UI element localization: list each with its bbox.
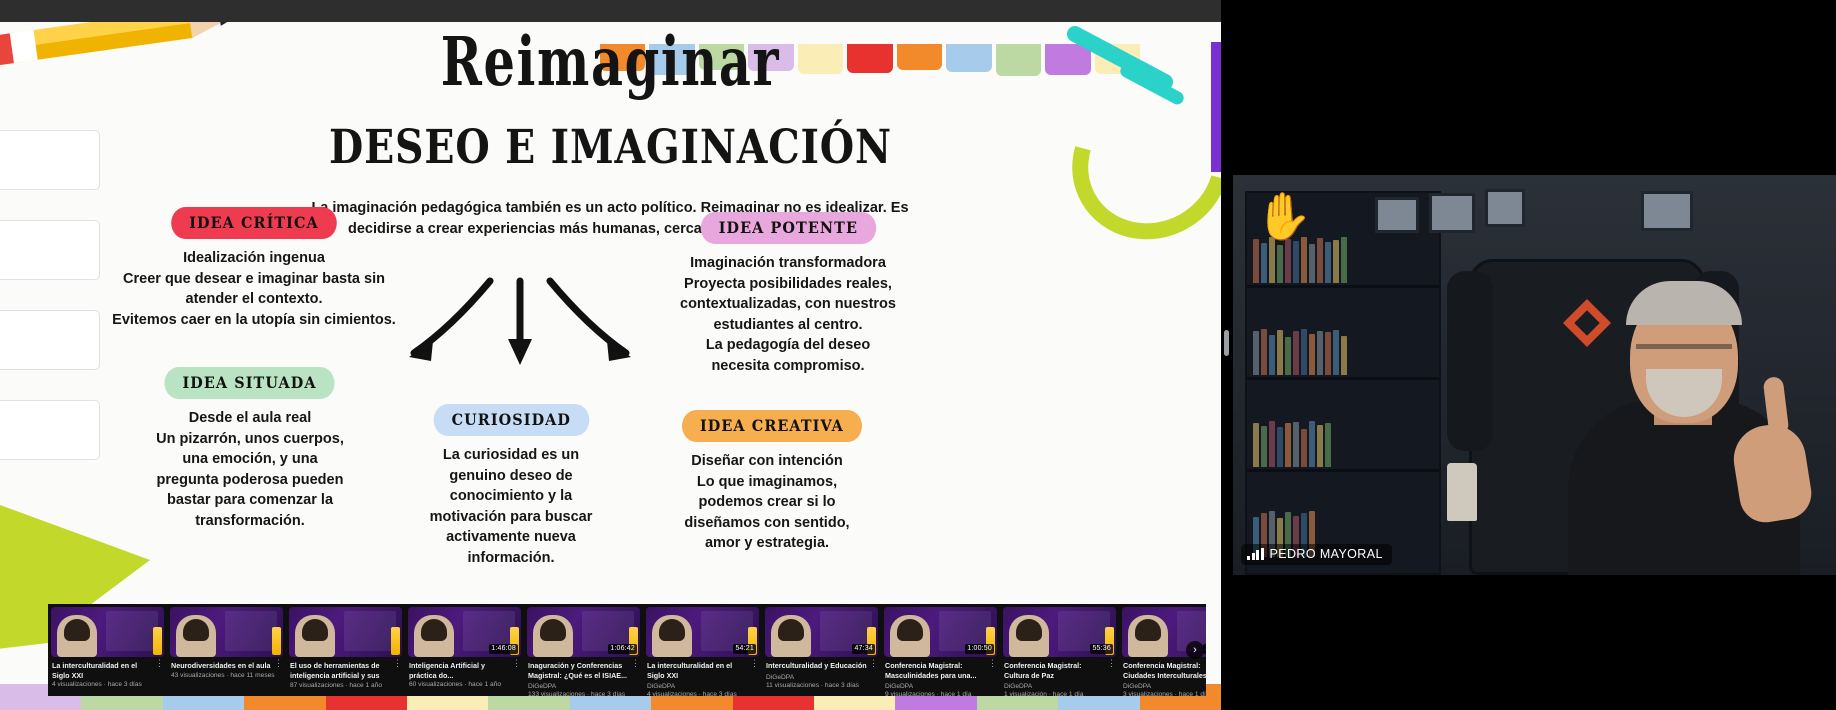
- video-title[interactable]: La interculturalidad en el Siglo XXI: [52, 661, 155, 680]
- panel-resize-handle[interactable]: [1224, 330, 1229, 356]
- chevron-right-icon[interactable]: ›: [1186, 641, 1204, 659]
- books-row: [1253, 237, 1347, 283]
- video-title[interactable]: Interculturalidad y Educación: [766, 661, 869, 671]
- slide-thumbnail-placeholder[interactable]: [0, 400, 100, 460]
- idea-body-curiosidad: La curiosidad es un genuino deseo de con…: [418, 445, 604, 568]
- idea-block-critica: IDEA CRÍTICA Idealización ingenua Creer …: [108, 207, 400, 330]
- video-title[interactable]: Conferencia Magistral: Ciudades Intercul…: [1123, 661, 1206, 680]
- idea-body-creativa: Diseñar con intención Lo que imaginamos,…: [672, 451, 862, 554]
- purple-bar-decoration: [1211, 42, 1221, 172]
- idea-body-critica: Idealización ingenua Creer que desear e …: [108, 248, 400, 330]
- video-meta: 9 visualizaciones · hace 1 día: [885, 691, 996, 696]
- bookshelf: [1245, 191, 1441, 575]
- desk-lamp: [1447, 463, 1477, 521]
- wall-picture-frame: [1375, 197, 1419, 233]
- presentation-top-bar: [0, 0, 1221, 22]
- participant-person: [1568, 245, 1800, 575]
- video-channel[interactable]: DiGeDPA: [647, 683, 758, 690]
- video-duration: 1:00:50: [965, 644, 994, 655]
- lime-shape-bottom-left: [0, 494, 150, 614]
- video-channel[interactable]: DiGeDPA: [528, 683, 639, 690]
- video-meta: 4 visualizaciones · hace 3 días: [647, 691, 758, 696]
- badge-idea-creativa: IDEA CREATIVA: [682, 410, 862, 442]
- video-title[interactable]: La interculturalidad en el Siglo XXI: [647, 661, 750, 680]
- youtube-video-card[interactable]: 1:46:08Inteligencia Artificial y práctic…: [405, 604, 524, 696]
- kebab-menu-icon[interactable]: ⋮: [750, 660, 759, 666]
- badge-idea-situada: IDEA SITUADA: [165, 367, 335, 399]
- video-channel[interactable]: DiGeDPA: [1004, 683, 1115, 690]
- video-thumbnail[interactable]: [170, 607, 283, 657]
- youtube-video-card[interactable]: 1:06:42Inaguración y Conferencias Magist…: [524, 604, 643, 696]
- kebab-menu-icon[interactable]: ⋮: [869, 660, 878, 666]
- video-channel[interactable]: DiGeDPA: [766, 674, 877, 681]
- video-meta: 133 visualizaciones · hace 3 días: [528, 691, 639, 696]
- video-meta: 43 visualizaciones · hace 11 meses: [171, 672, 282, 679]
- video-title[interactable]: Conferencia Magistral: Cultura de Paz: [1004, 661, 1107, 680]
- raised-hand-icon: ✋: [1255, 193, 1312, 239]
- slide-thumbnail-placeholder[interactable]: [0, 310, 100, 370]
- participant-name-label: PEDRO MAYORAL: [1270, 547, 1383, 561]
- wall-picture-frame: [1641, 191, 1693, 231]
- kebab-menu-icon[interactable]: ⋮: [393, 660, 402, 666]
- idea-block-curiosidad: CURIOSIDAD La curiosidad es un genuino d…: [418, 404, 604, 568]
- youtube-video-card[interactable]: 47:34Interculturalidad y EducaciónDiGeDP…: [762, 604, 881, 696]
- video-thumbnail[interactable]: 54:21: [646, 607, 759, 657]
- youtube-video-card[interactable]: 1:00:50Conferencia Magistral: Masculinid…: [881, 604, 1000, 696]
- books-row: [1253, 329, 1347, 375]
- slide-title: Reimaginar: [110, 28, 1111, 95]
- video-duration: 1:46:08: [489, 644, 518, 655]
- video-meta: 1 visualización · hace 1 día: [1004, 691, 1115, 696]
- youtube-video-card[interactable]: Neurodiversidades en el aula43 visualiza…: [167, 604, 286, 696]
- hair: [1626, 281, 1742, 325]
- video-title[interactable]: Conferencia Magistral: Masculinidades pa…: [885, 661, 988, 680]
- chair-wing-left: [1447, 271, 1493, 451]
- shared-screen-region[interactable]: Reimaginar DESEO E IMAGINACIÓN La imagin…: [0, 0, 1221, 710]
- kebab-menu-icon[interactable]: ⋮: [155, 660, 164, 666]
- kebab-menu-icon[interactable]: ⋮: [512, 660, 521, 666]
- video-meta: 4 visualizaciones · hace 3 días: [52, 681, 163, 688]
- idea-block-creativa: IDEA CREATIVA Diseñar con intención Lo q…: [672, 410, 862, 554]
- video-duration: 1:06:42: [608, 644, 637, 655]
- badge-idea-potente: IDEA POTENTE: [700, 212, 875, 244]
- idea-block-potente: IDEA POTENTE Imaginación transformadora …: [676, 212, 900, 376]
- video-duration: 55:36: [1090, 644, 1113, 655]
- slide-subtitle: DESEO E IMAGINACIÓN: [98, 120, 1124, 175]
- video-meta: 60 visualizaciones · hace 1 año: [409, 681, 520, 688]
- video-thumbnail[interactable]: 1:46:08: [408, 607, 521, 657]
- video-channel[interactable]: DiGeDPA: [1123, 683, 1206, 690]
- participant-video-tile[interactable]: ✋ PEDRO MAYORAL: [1233, 175, 1836, 575]
- video-thumbnail[interactable]: [51, 607, 164, 657]
- video-channel[interactable]: DiGeDPA: [885, 683, 996, 690]
- eyes: [1636, 344, 1732, 349]
- video-thumbnail[interactable]: [289, 607, 402, 657]
- youtube-video-strip[interactable]: ‹ La interculturalidad en el Siglo XXI4 …: [48, 604, 1206, 696]
- badge-idea-critica: IDEA CRÍTICA: [171, 207, 337, 239]
- video-duration: 47:34: [852, 644, 875, 655]
- video-meta: 3 visualizaciones · hace 1 día: [1123, 691, 1206, 696]
- video-meta: 11 visualizaciones · hace 3 días: [766, 682, 877, 689]
- signal-bars-icon: [1247, 548, 1264, 560]
- kebab-menu-icon[interactable]: ⋮: [988, 660, 997, 666]
- idea-body-situada: Desde el aula real Un pizarrón, unos cue…: [150, 408, 350, 531]
- participant-name-badge: PEDRO MAYORAL: [1241, 544, 1392, 565]
- video-thumbnail[interactable]: 55:36: [1003, 607, 1116, 657]
- three-arrows-diagram-icon: [395, 277, 645, 372]
- video-title[interactable]: Inteligencia Artificial y práctica do...: [409, 661, 512, 680]
- youtube-video-card[interactable]: 54:21La interculturalidad en el Siglo XX…: [643, 604, 762, 696]
- youtube-video-card[interactable]: El uso de herramientas de inteligencia a…: [286, 604, 405, 696]
- kebab-menu-icon[interactable]: ⋮: [274, 660, 283, 666]
- video-title[interactable]: Inaguración y Conferencias Magistral: ¿Q…: [528, 661, 631, 680]
- slide-thumbnail-placeholder[interactable]: [0, 130, 100, 190]
- video-duration: 54:21: [733, 644, 756, 655]
- video-thumbnail[interactable]: 1:00:50: [884, 607, 997, 657]
- badge-curiosidad: CURIOSIDAD: [433, 404, 588, 436]
- idea-body-potente: Imaginación transformadora Proyecta posi…: [676, 253, 900, 376]
- video-title[interactable]: El uso de herramientas de inteligencia a…: [290, 661, 393, 681]
- video-thumbnail[interactable]: 1:06:42: [527, 607, 640, 657]
- kebab-menu-icon[interactable]: ⋮: [631, 660, 640, 666]
- kebab-menu-icon[interactable]: ⋮: [1107, 660, 1116, 666]
- slide-thumbnail-placeholder[interactable]: [0, 220, 100, 280]
- screen-share-meeting-view: Reimaginar DESEO E IMAGINACIÓN La imagin…: [0, 0, 1836, 710]
- books-row: [1253, 421, 1331, 467]
- idea-block-situada: IDEA SITUADA Desde el aula real Un pizar…: [150, 367, 350, 531]
- video-meta: 87 visualizaciones · hace 1 año: [290, 682, 401, 689]
- video-thumbnail[interactable]: 47:34: [765, 607, 878, 657]
- youtube-video-card[interactable]: La interculturalidad en el Siglo XXI4 vi…: [48, 604, 167, 696]
- youtube-video-card[interactable]: 55:36Conferencia Magistral: Cultura de P…: [1000, 604, 1119, 696]
- video-title[interactable]: Neurodiversidades en el aula: [171, 661, 274, 671]
- wall-picture-frame: [1485, 189, 1525, 227]
- wall-picture-frame: [1429, 193, 1475, 233]
